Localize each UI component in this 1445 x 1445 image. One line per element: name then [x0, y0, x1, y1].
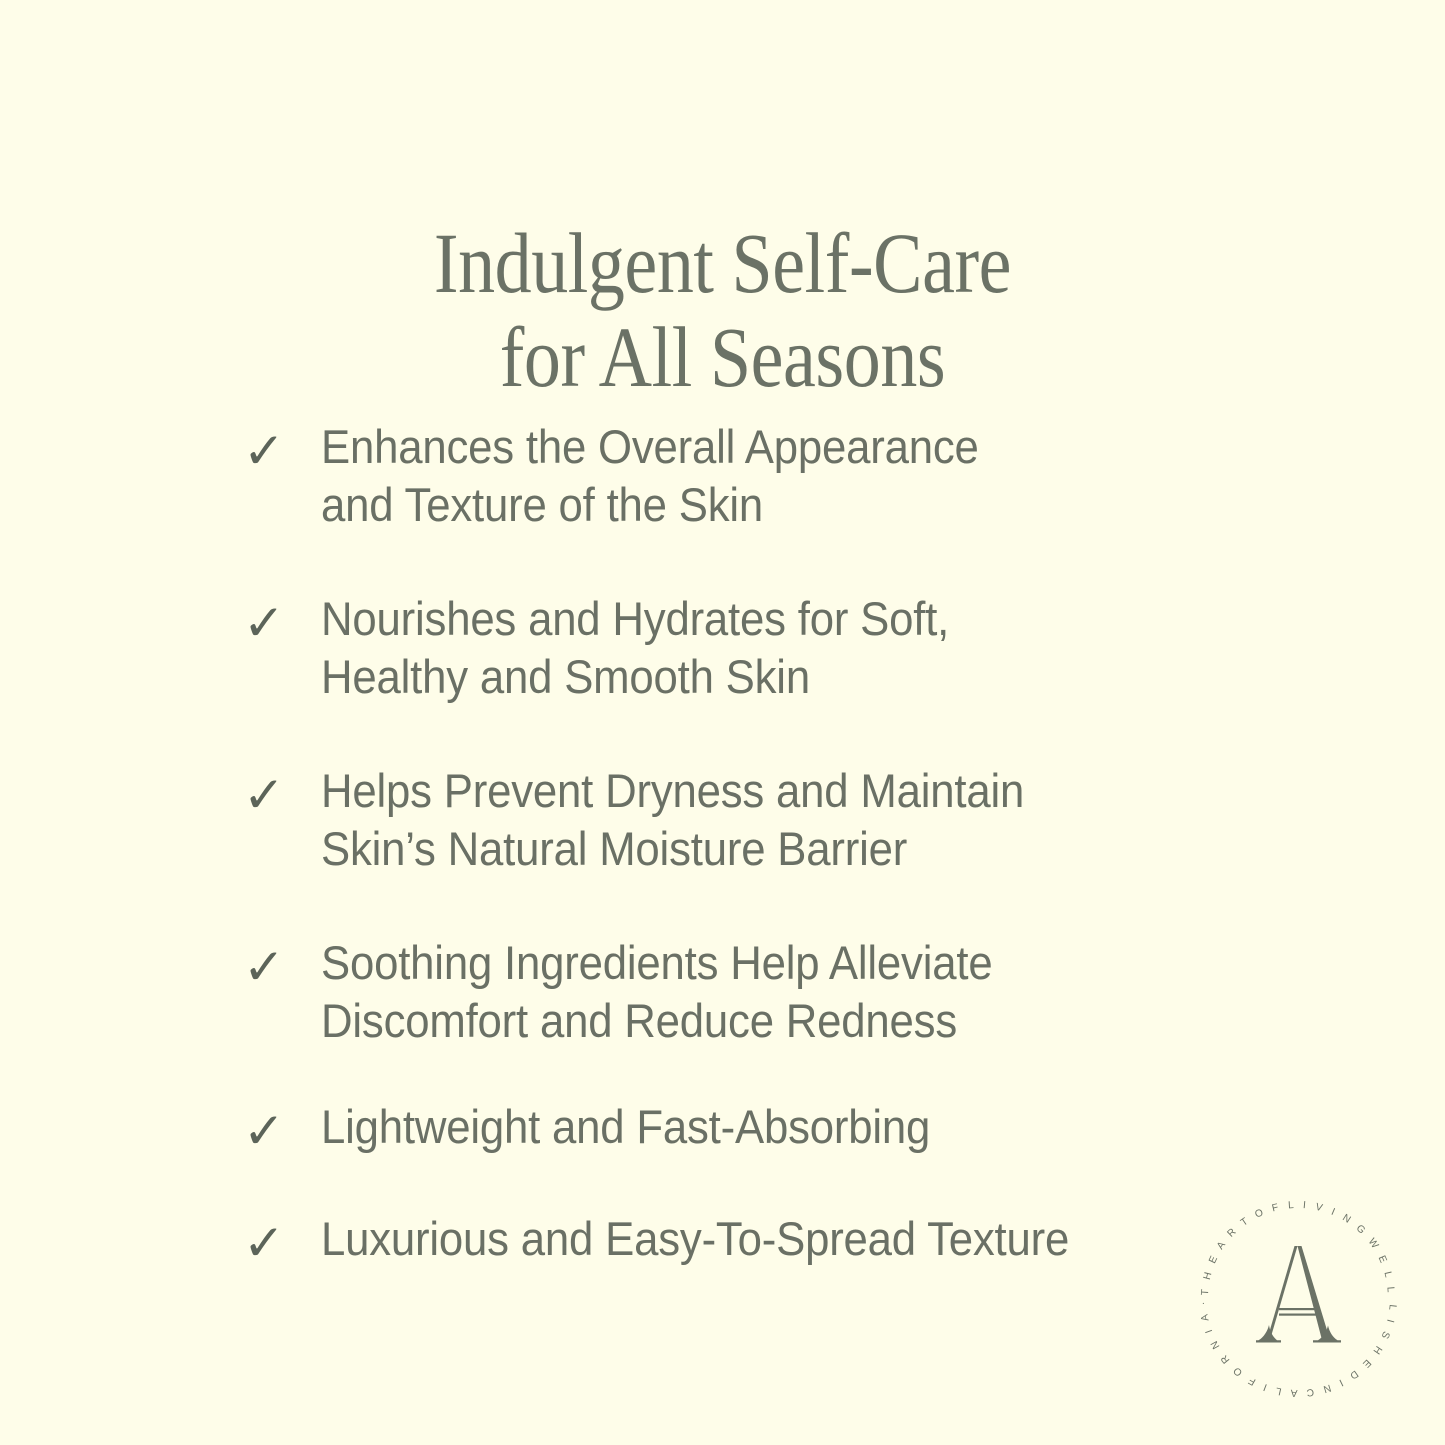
list-item: ✓ Lightweight and Fast-Absorbing: [243, 1098, 1193, 1162]
benefit-text: Lightweight and Fast-Absorbing: [321, 1098, 1132, 1156]
benefits-list: ✓ Enhances the Overall Appearance and Te…: [243, 418, 1193, 1274]
list-item: ✓ Soothing Ingredients Help Alleviate Di…: [243, 934, 1193, 1050]
list-item: ✓ Luxurious and Easy-To-Spread Texture: [243, 1210, 1193, 1274]
list-item: ✓ Nourishes and Hydrates for Soft, Healt…: [243, 590, 1193, 706]
list-item: ✓ Enhances the Overall Appearance and Te…: [243, 418, 1193, 534]
page-title-line-1: Indulgent Self-Care: [101, 216, 1344, 310]
list-item: ✓ Helps Prevent Dryness and Maintain Ski…: [243, 762, 1193, 878]
check-icon: ✓: [243, 590, 321, 654]
poster-canvas: Indulgent Self-Care for All Seasons ✓ En…: [0, 0, 1445, 1445]
brand-seal-badge: · T H E A R T O F L I V I N G W E L L · …: [1184, 1184, 1412, 1412]
benefit-text: Helps Prevent Dryness and Maintain Skin’…: [321, 762, 1132, 878]
benefit-text: Enhances the Overall Appearance and Text…: [321, 418, 1132, 534]
seal-bottom-arc-textpath: E S T A B L I S H E D I N C A L I F O R …: [1184, 1184, 1398, 1398]
benefit-text: Luxurious and Easy-To-Spread Texture: [321, 1210, 1132, 1268]
benefit-text: Soothing Ingredients Help Alleviate Disc…: [321, 934, 1132, 1050]
seal-bottom-arc-text: E S T A B L I S H E D I N C A L I F O R …: [1184, 1184, 1398, 1398]
check-icon: ✓: [243, 1210, 321, 1274]
brand-seal-svg: · T H E A R T O F L I V I N G W E L L · …: [1184, 1184, 1412, 1412]
check-icon: ✓: [243, 762, 321, 826]
page-title-line-2: for All Seasons: [101, 310, 1344, 404]
check-icon: ✓: [243, 934, 321, 998]
benefit-text: Nourishes and Hydrates for Soft, Healthy…: [321, 590, 1132, 706]
page-title: Indulgent Self-Care for All Seasons: [101, 216, 1344, 404]
seal-top-arc-textpath: · T H E A R T O F L I V I N G W E L L ·: [1184, 1184, 1396, 1296]
seal-top-arc-text: · T H E A R T O F L I V I N G W E L L ·: [1184, 1184, 1396, 1296]
monogram-a-icon: [1256, 1246, 1341, 1343]
check-icon: ✓: [243, 418, 321, 482]
check-icon: ✓: [243, 1098, 321, 1162]
